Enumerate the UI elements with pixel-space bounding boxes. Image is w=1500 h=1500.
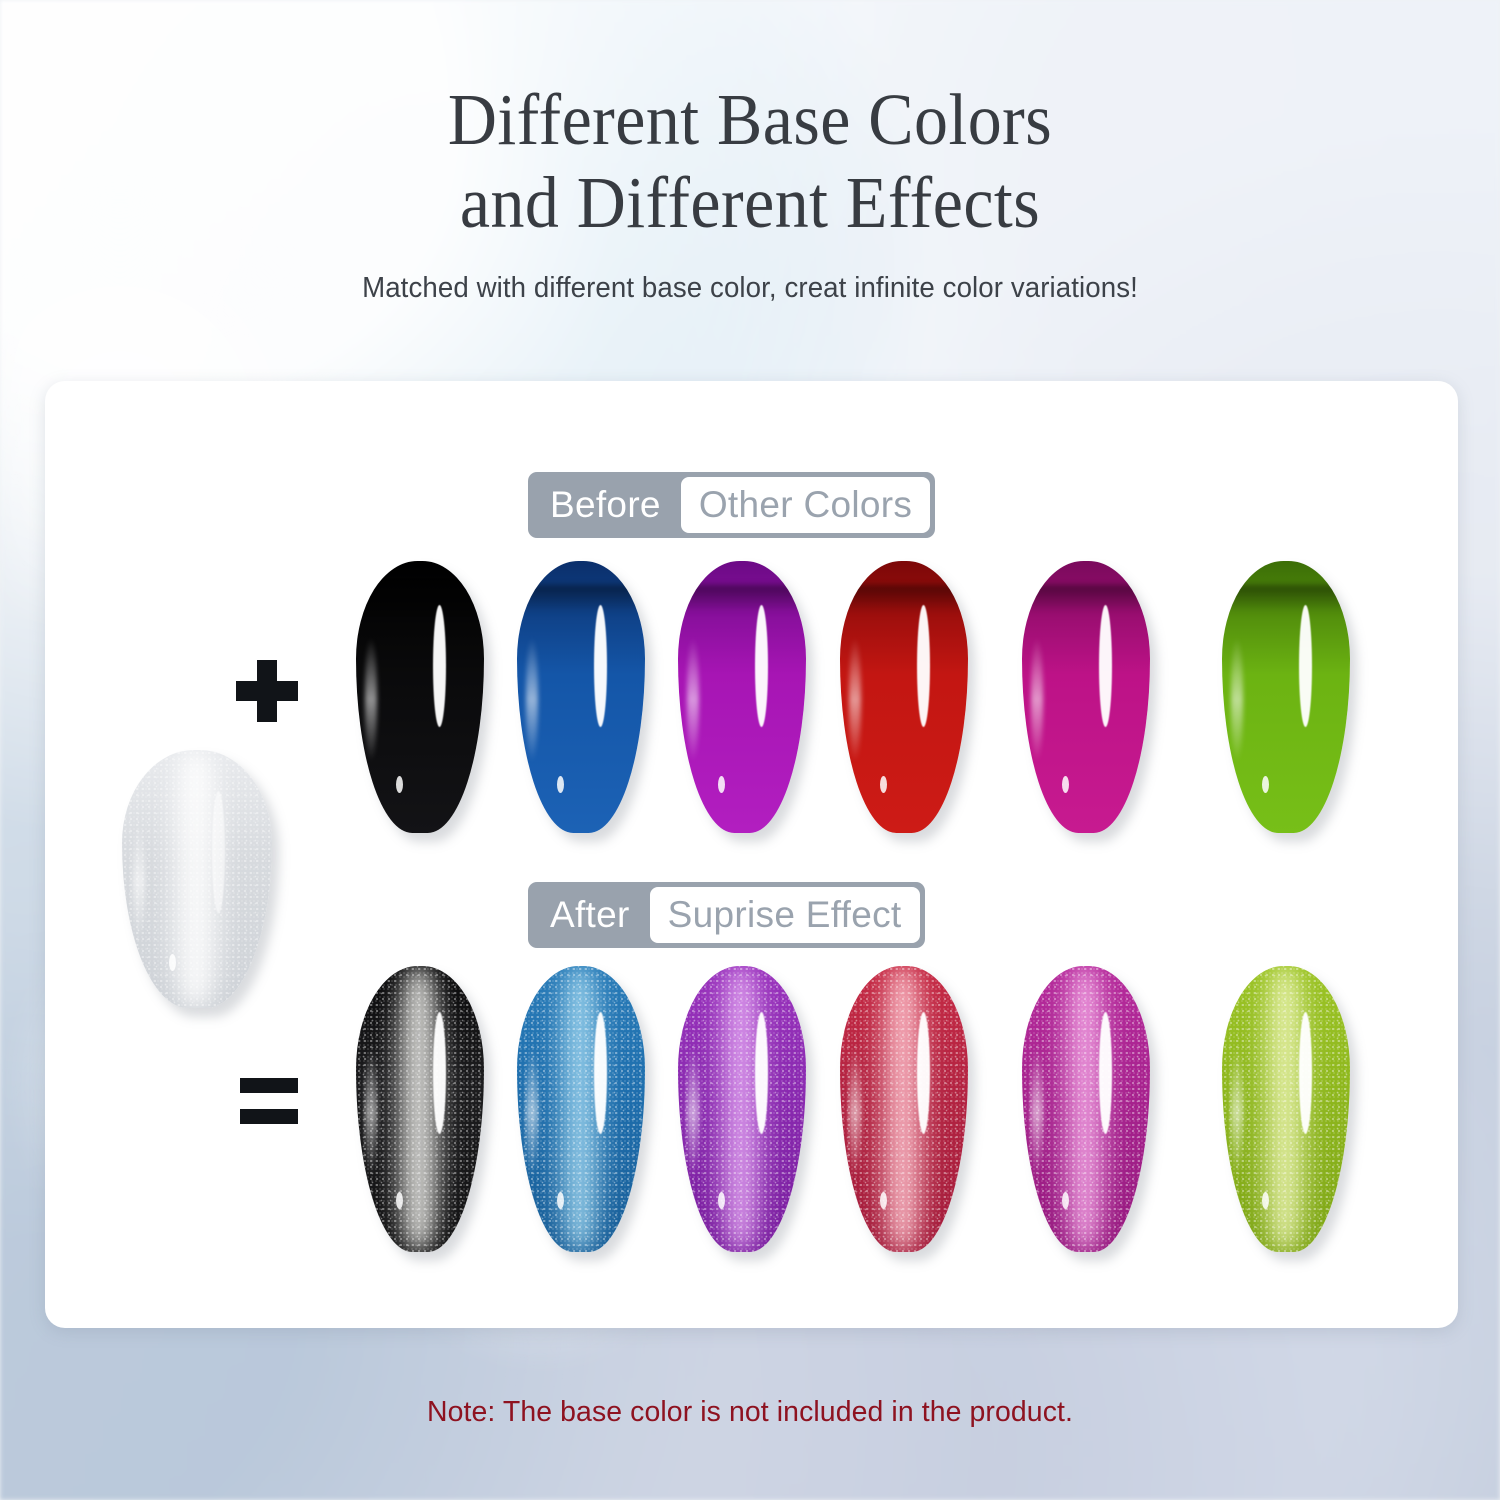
badge-before-stage: Before <box>528 472 681 538</box>
rim-light <box>687 1046 699 1178</box>
badge-before-caption: Other Colors <box>681 477 930 533</box>
gloss-highlight <box>1099 605 1112 727</box>
cuticle-shadow-band <box>1022 585 1150 612</box>
rim-light <box>849 637 861 762</box>
tip-highlight <box>169 954 176 971</box>
page-title-line-1: Different Base Colors <box>53 78 1448 161</box>
header: Different Base Colors and Different Effe… <box>0 78 1500 305</box>
cuticle-shadow-band <box>1222 585 1350 612</box>
cuticle-shadow-band <box>678 585 806 612</box>
cuticle-shadow-band <box>840 585 968 612</box>
badge-after-caption: Suprise Effect <box>650 887 920 943</box>
rim-light <box>365 637 377 762</box>
tip-highlight <box>557 776 564 793</box>
gloss-highlight <box>433 1012 446 1134</box>
cuticle-shadow-band <box>356 585 484 612</box>
cuticle-shadow-band <box>517 585 645 612</box>
tip-highlight <box>1262 776 1269 793</box>
gloss-highlight <box>755 1012 768 1134</box>
page-title-line-2: and Different Effects <box>53 161 1448 244</box>
rim-light <box>133 822 145 941</box>
tip-highlight <box>396 1192 403 1209</box>
tip-highlight <box>880 776 887 793</box>
gloss-highlight <box>1299 605 1312 727</box>
base-nail-silver <box>122 750 272 1008</box>
rim-light <box>849 1046 861 1178</box>
tip-highlight <box>1062 1192 1069 1209</box>
rim-light <box>365 1046 377 1178</box>
tip-highlight <box>718 776 725 793</box>
rim-light <box>1031 1046 1043 1178</box>
badge-after-stage: After <box>528 882 650 948</box>
gloss-highlight <box>433 605 446 727</box>
rim-light <box>1031 637 1043 762</box>
page-subtitle: Matched with different base color, creat… <box>23 272 1478 305</box>
glitter-texture <box>122 750 272 1008</box>
gloss-highlight <box>594 1012 607 1134</box>
equals-operator-icon <box>240 1078 298 1124</box>
gloss-highlight <box>594 605 607 727</box>
rim-light <box>687 637 699 762</box>
rim-light <box>1231 637 1243 762</box>
tip-highlight <box>557 1192 564 1209</box>
gloss-highlight <box>1299 1012 1312 1134</box>
nail-after-red <box>840 966 968 1252</box>
nail-after-blue <box>517 966 645 1252</box>
disclaimer-note: Note: The base color is not included in … <box>15 1396 1485 1429</box>
badge-before: Before Other Colors <box>528 472 935 538</box>
badge-after: After Suprise Effect <box>528 882 925 948</box>
tip-highlight <box>718 1192 725 1209</box>
gloss-highlight <box>917 1012 930 1134</box>
gloss-highlight <box>212 791 225 913</box>
tip-highlight <box>1262 1192 1269 1209</box>
rim-light <box>1231 1046 1243 1178</box>
gloss-highlight <box>755 605 768 727</box>
rim-light <box>526 1046 538 1178</box>
nail-after-magenta <box>1022 966 1150 1252</box>
gloss-highlight <box>1099 1012 1112 1134</box>
tip-highlight <box>1062 776 1069 793</box>
nail-after-purple <box>678 966 806 1252</box>
gloss-highlight <box>917 605 930 727</box>
tip-highlight <box>880 1192 887 1209</box>
nail-after-green <box>1222 966 1350 1252</box>
tip-highlight <box>396 776 403 793</box>
nail-after-silver-black <box>356 966 484 1252</box>
rim-light <box>526 637 538 762</box>
plus-operator-icon <box>236 660 298 722</box>
